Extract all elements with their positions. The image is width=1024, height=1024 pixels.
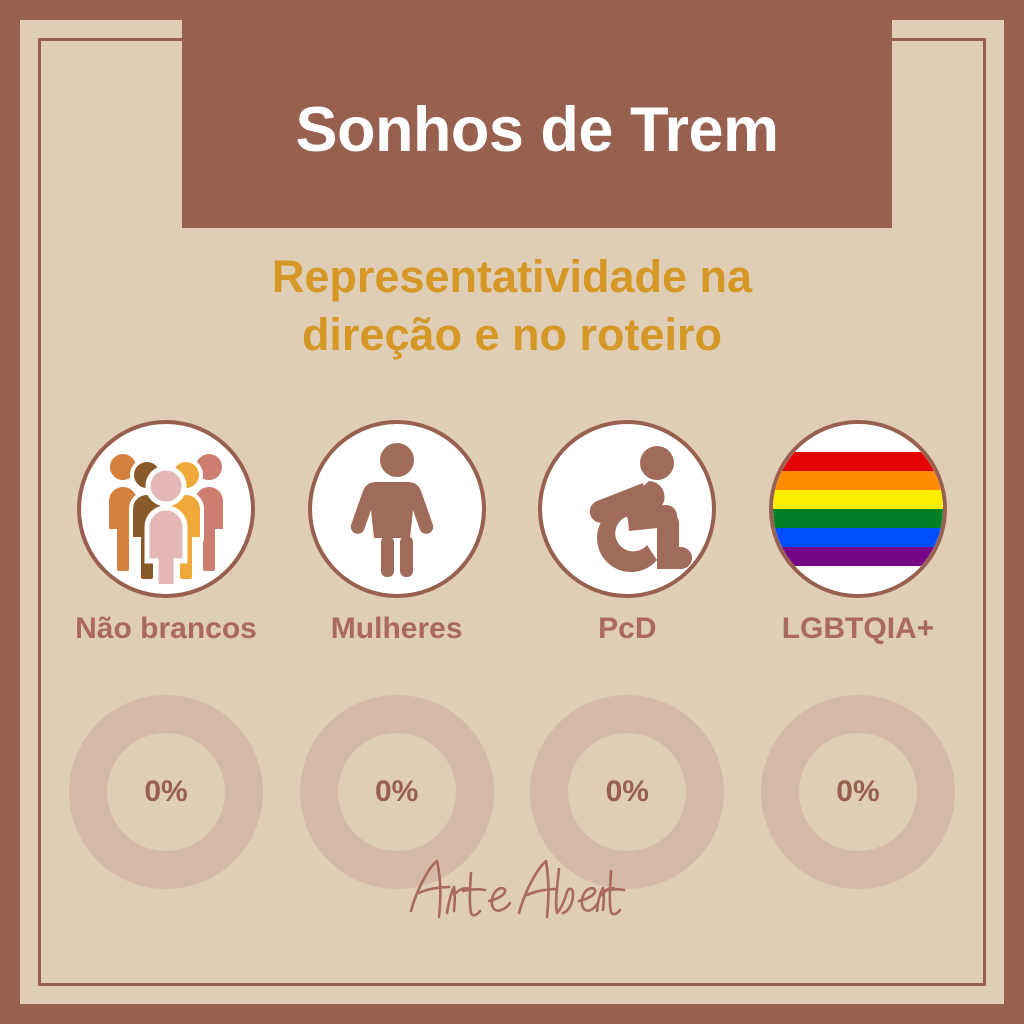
category-pcd: PcD: [527, 420, 727, 644]
category-mulheres: Mulheres: [297, 420, 497, 644]
accessible-wheelchair-icon: [557, 439, 697, 579]
subtitle-line-1: Representatividade na: [130, 248, 894, 306]
donut-value: 0%: [375, 777, 418, 807]
category-label: PcD: [598, 614, 656, 644]
subtitle-line-2: direção e no roteiro: [130, 306, 894, 364]
category-lgbtqia: LGBTQIA+: [758, 420, 958, 644]
poster-panel: Sonhos de Trem Representatividade na dir…: [20, 20, 1004, 1004]
woman-figure-icon: [337, 441, 457, 577]
category-nao-brancos: Não brancos: [66, 420, 266, 644]
icon-circle: [769, 420, 947, 598]
rainbow-pride-flag-icon: [772, 423, 944, 595]
donut-value: 0%: [836, 777, 879, 807]
brand-signature: [20, 851, 1004, 930]
arte-aberta-signature-icon: [397, 912, 627, 929]
category-label: LGBTQIA+: [782, 614, 935, 644]
category-label: Mulheres: [331, 614, 463, 644]
subtitle: Representatividade na direção e no rotei…: [20, 248, 1004, 363]
icon-circle: [538, 420, 716, 598]
poster-root: Sonhos de Trem Representatividade na dir…: [0, 0, 1024, 1024]
title-banner: Sonhos de Trem: [182, 20, 892, 228]
donut-value: 0%: [606, 777, 649, 807]
category-label: Não brancos: [75, 614, 257, 644]
group-of-people-icon: [91, 434, 241, 584]
page-title: Sonhos de Trem: [295, 99, 778, 162]
icon-circle: [308, 420, 486, 598]
icon-circle: [77, 420, 255, 598]
donut-value: 0%: [144, 777, 187, 807]
category-row: Não brancos: [66, 420, 958, 644]
